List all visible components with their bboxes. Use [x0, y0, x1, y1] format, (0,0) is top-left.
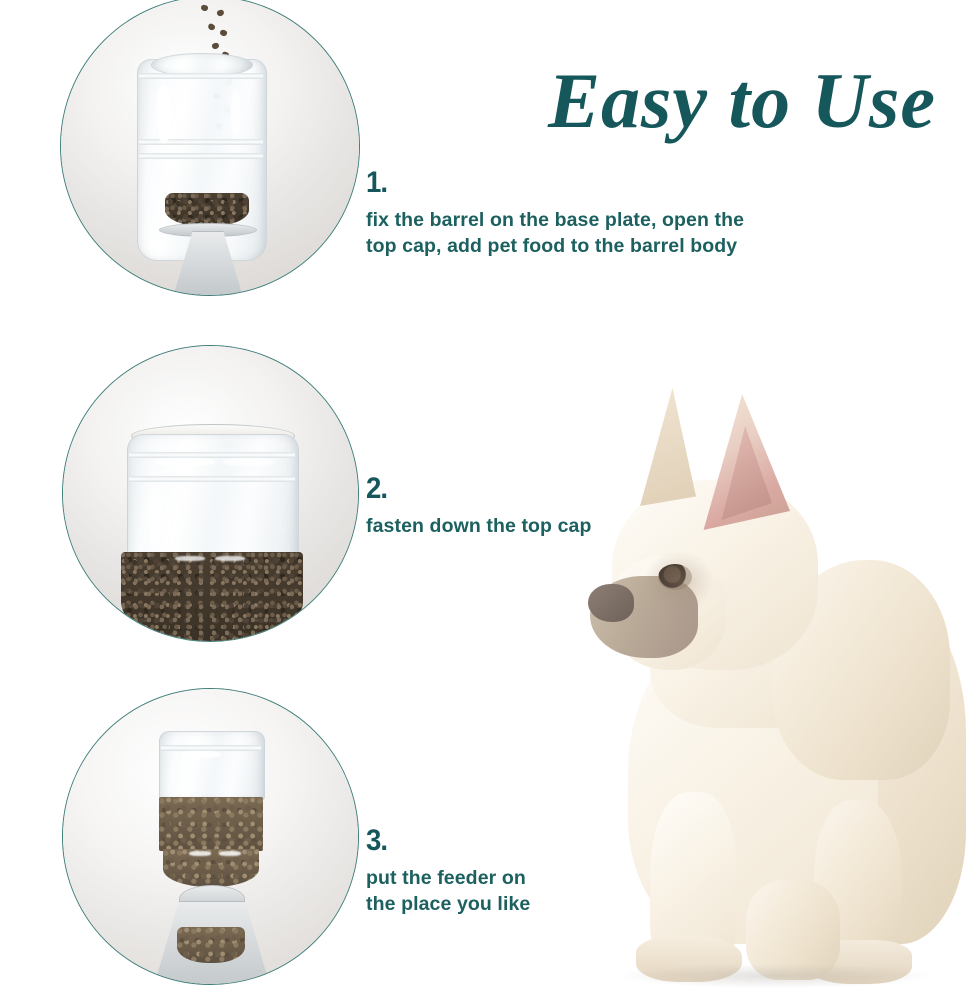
- kibble-in-tray: [165, 193, 249, 227]
- kibble-fill: [159, 797, 263, 851]
- step-1-text: fix the barrel on the base plate, open t…: [366, 208, 816, 260]
- barrel-highlight: [223, 458, 273, 466]
- barrel-highlight: [181, 751, 221, 758]
- barrel-rib: [129, 476, 295, 482]
- barrel-rib: [129, 452, 295, 458]
- barrel-rib: [139, 73, 263, 79]
- barrel-slot-highlight: [189, 851, 211, 856]
- step-1: 1. fix the barrel on the base plate, ope…: [366, 168, 816, 260]
- dog-ear-left: [640, 388, 696, 506]
- barrel-highlight: [231, 89, 240, 135]
- kibble-in-bowl: [177, 927, 245, 963]
- barrel-rib: [161, 745, 261, 751]
- feeder-barrel-filling-photo: [60, 0, 360, 296]
- kibble-funnel: [163, 849, 259, 887]
- tray-slot-highlight: [215, 556, 245, 561]
- barrel-slot-highlight: [219, 851, 241, 856]
- barrel-rib: [139, 139, 263, 145]
- step-3-number: 3.: [366, 826, 578, 856]
- step-3: 3. put the feeder on the place you like: [366, 826, 596, 918]
- kibble-fill: [121, 552, 303, 642]
- page-title: Easy to Use: [548, 62, 948, 140]
- barrel-upper-clear: [159, 731, 265, 801]
- french-bulldog-photo: [566, 380, 966, 997]
- infographic-canvas: Easy to Use: [0, 0, 966, 997]
- feeder-cap-fastened-photo: [62, 345, 359, 642]
- dog-eye-patch: [644, 550, 714, 612]
- step-3-text: put the feeder on the place you like: [366, 866, 596, 918]
- dog-nose: [588, 584, 634, 622]
- step-1-number: 1.: [366, 168, 780, 198]
- tray-slot-highlight: [175, 556, 205, 561]
- barrel-highlight: [157, 85, 171, 143]
- barrel-highlight: [155, 458, 215, 466]
- barrel-rib: [139, 153, 263, 159]
- dog-ground-shadow: [620, 964, 930, 988]
- barrel-highlight: [149, 486, 161, 548]
- feeder-assembled-photo: [62, 688, 359, 985]
